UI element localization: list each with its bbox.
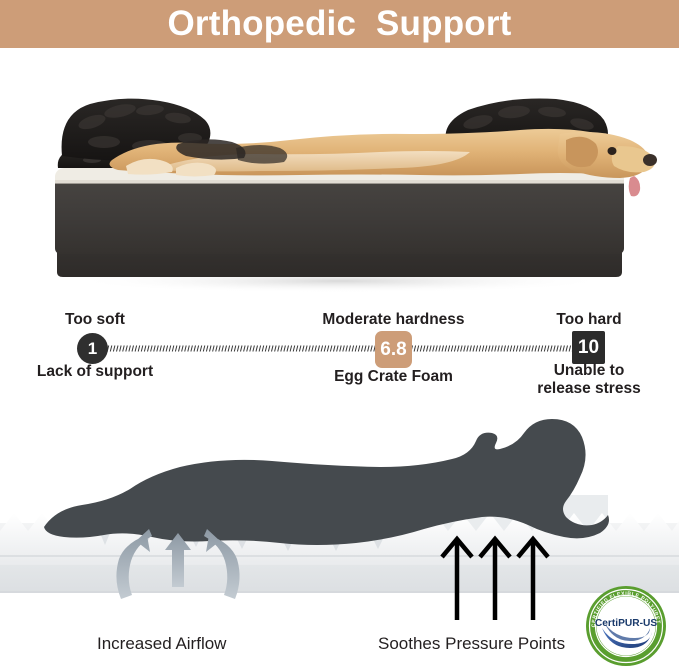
scale-badge-current[interactable]: 6.8 [375, 331, 412, 368]
scale-max-top-label: Too hard [529, 311, 649, 328]
scale-min-bottom-label: Lack of support [22, 363, 168, 381]
caption-increased-airflow: Increased Airflow [97, 635, 226, 652]
foam-diagram [0, 405, 679, 620]
scale-current-bottom-label: Egg Crate Foam [306, 368, 481, 386]
scale-track [100, 344, 580, 353]
scale-min-top-label: Too soft [34, 311, 156, 328]
scale-badge-max[interactable]: 10 [572, 331, 605, 364]
certipur-us-badge: CONTAINS CERTIFIED FLEXIBLE POLYURETHANE… [584, 584, 668, 668]
certipur-brand-text: CertiPUR-US [595, 618, 657, 629]
hardness-scale: Too soft Moderate hardness Too hard 1 6.… [0, 300, 679, 405]
scale-max-bottom-line1: Unable to [554, 362, 625, 379]
header-banner: Orthopedic Support [0, 0, 679, 48]
scale-badge-min[interactable]: 1 [77, 333, 108, 364]
page-title: Orthopedic Support [167, 6, 511, 41]
caption-soothes-pressure-points: Soothes Pressure Points [378, 635, 565, 652]
product-photo [0, 48, 679, 300]
foam-cross-section [0, 405, 679, 620]
dog-bed-photo-illustration [0, 48, 679, 300]
scale-max-bottom-label: Unable to release stress [525, 362, 653, 397]
scale-max-bottom-line2: release stress [537, 380, 640, 397]
scale-current-top-label: Moderate hardness [300, 311, 487, 328]
